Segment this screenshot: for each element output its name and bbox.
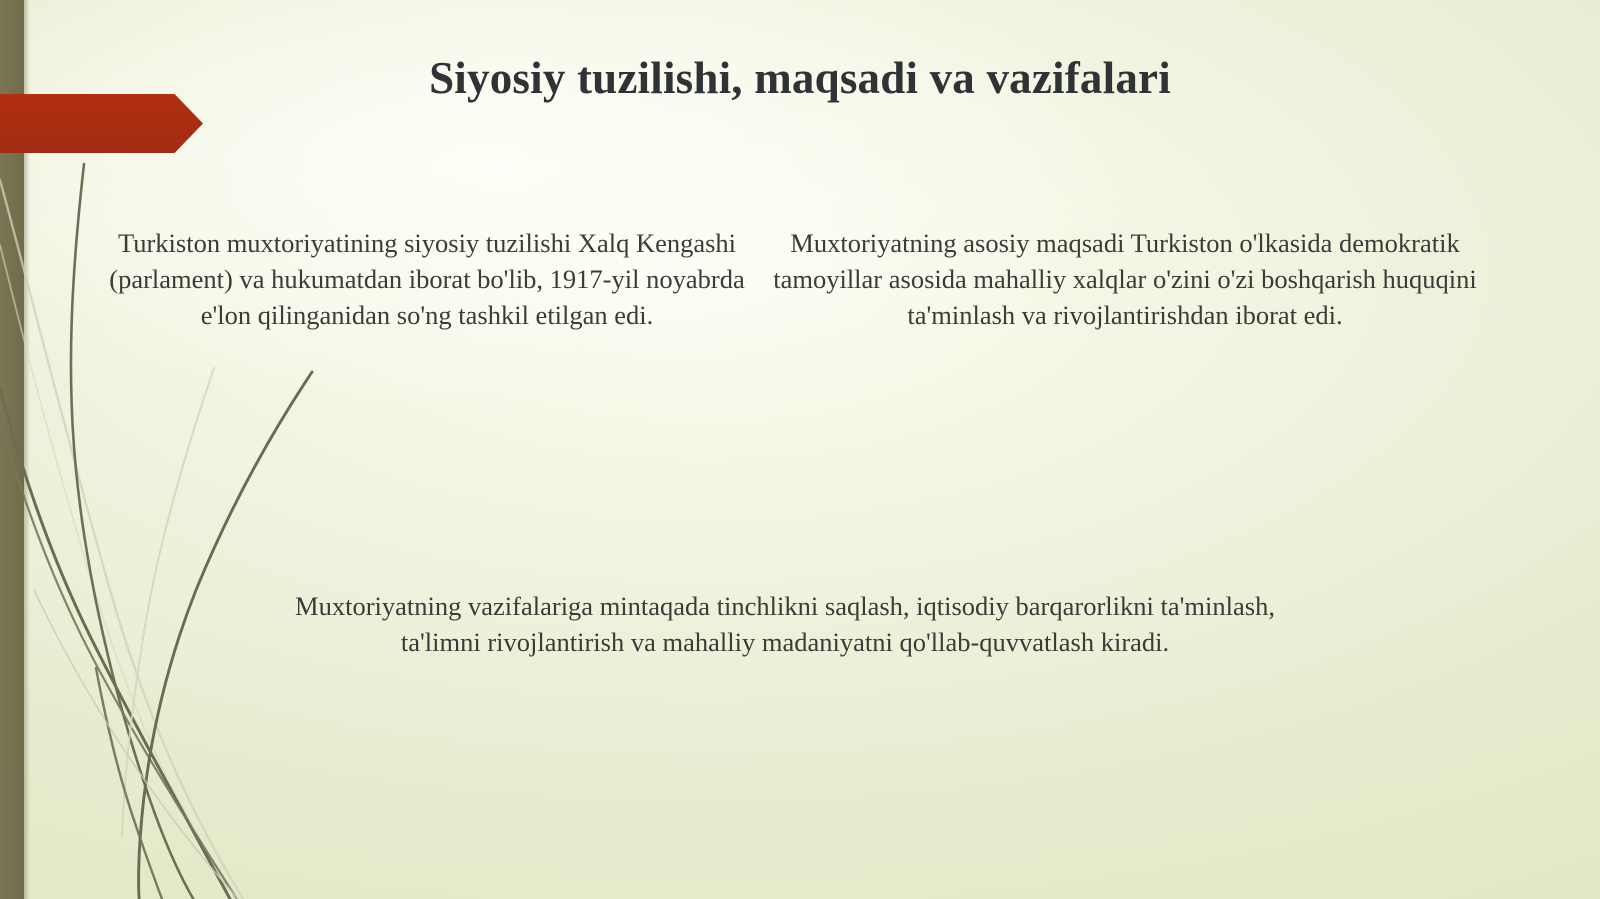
presentation-slide: Siyosiy tuzilishi, maqsadi va vazifalari… (0, 0, 1600, 899)
text-column-left: Turkiston muxtoriyatining siyosiy tuzili… (104, 225, 750, 334)
text-column-right: Muxtoriyatning asosiy maqsadi Turkiston … (772, 225, 1478, 334)
slide-title: Siyosiy tuzilishi, maqsadi va vazifalari (0, 52, 1600, 105)
text-block-bottom: Muxtoriyatning vazifalariga mintaqada ti… (268, 588, 1302, 660)
slide-background-highlight (0, 0, 1600, 899)
